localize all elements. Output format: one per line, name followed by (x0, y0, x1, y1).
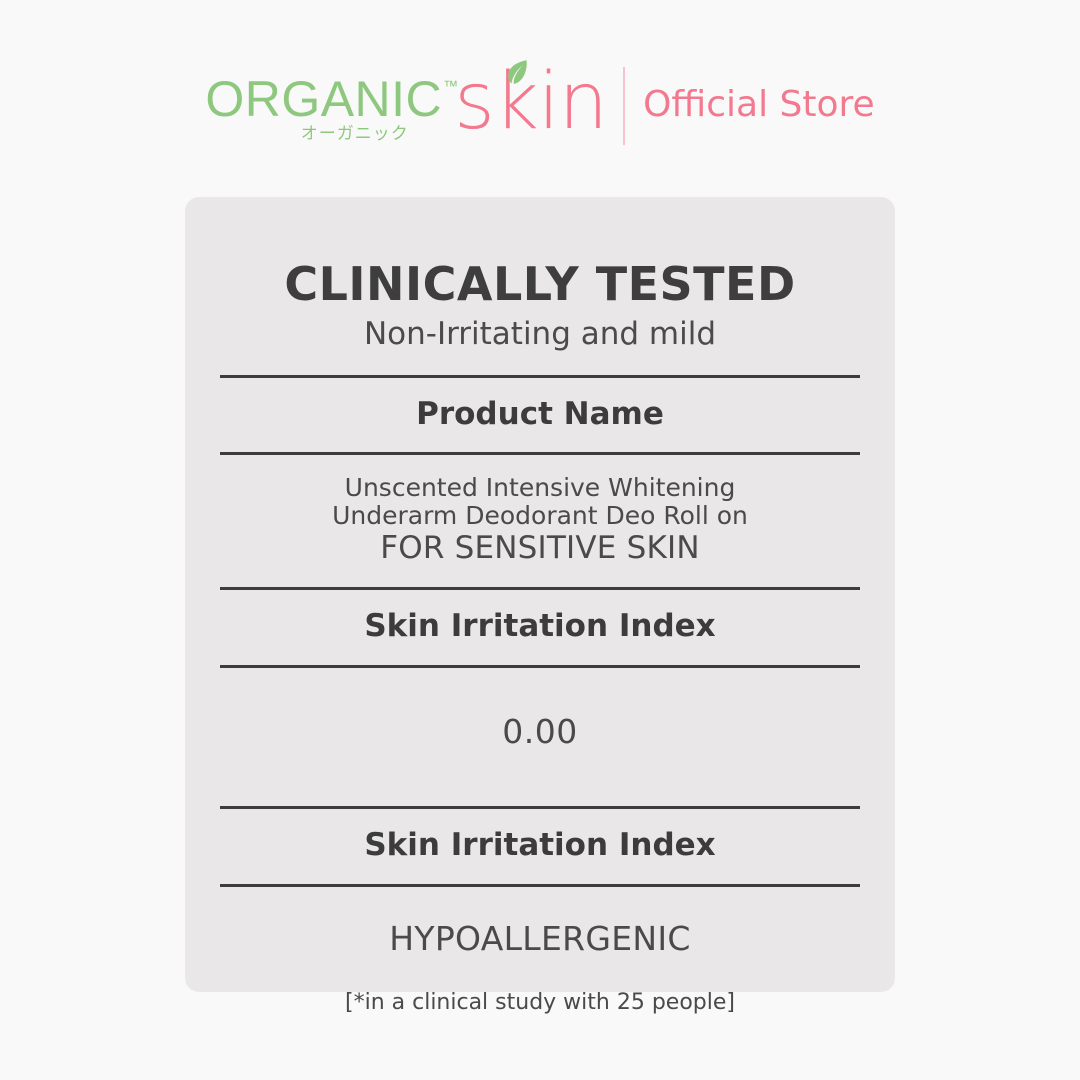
product-name-emphasis: FOR SENSITIVE SKIN (220, 530, 860, 567)
section-heading-product-name-row: Product Name (220, 378, 860, 452)
section-heading-skin-irritation-index-1: Skin Irritation Index (220, 611, 860, 642)
brand-organic-row: ORGANIC ™ (205, 75, 458, 123)
card-subtitle: Non-Irritating and mild (220, 317, 860, 351)
brand-organic-text: ORGANIC (205, 75, 442, 123)
card-title: CLINICALLY TESTED (220, 260, 860, 308)
section-heading-skin-irritation-index-2: Skin Irritation Index (220, 830, 860, 861)
hypoallergenic-value: HYPOALLERGENIC (220, 887, 860, 958)
skin-irritation-index-value: 0.00 (220, 668, 860, 806)
brand-organic-block: ORGANIC ™ オーガニック (205, 61, 458, 144)
title-spacer (220, 351, 860, 375)
brand-lockup: ORGANIC ™ オーガニック skin Official Store (205, 61, 874, 145)
section-heading-index-1-row: Skin Irritation Index (220, 590, 860, 665)
brand-skin-text: skin (454, 57, 607, 147)
product-name-line-1: Unscented Intensive Whitening (220, 474, 860, 502)
product-name-line-2: Underarm Deodorant Deo Roll on (220, 502, 860, 530)
clinical-study-footnote: [*in a clinical study with 25 people] (220, 958, 860, 1015)
brand-kana-text: オーガニック (301, 119, 409, 144)
official-store-label: Official Store (643, 87, 875, 123)
product-name-value-block: Unscented Intensive Whitening Underarm D… (220, 455, 860, 586)
brand-header: ORGANIC ™ オーガニック skin Official Store (0, 58, 1080, 148)
leaf-icon (506, 59, 528, 85)
section-heading-product-name: Product Name (220, 399, 860, 430)
brand-skin-block: skin (454, 61, 607, 141)
clinical-test-card: CLINICALLY TESTED Non-Irritating and mil… (185, 197, 895, 992)
brand-divider (623, 67, 625, 145)
section-heading-index-2-row: Skin Irritation Index (220, 809, 860, 884)
